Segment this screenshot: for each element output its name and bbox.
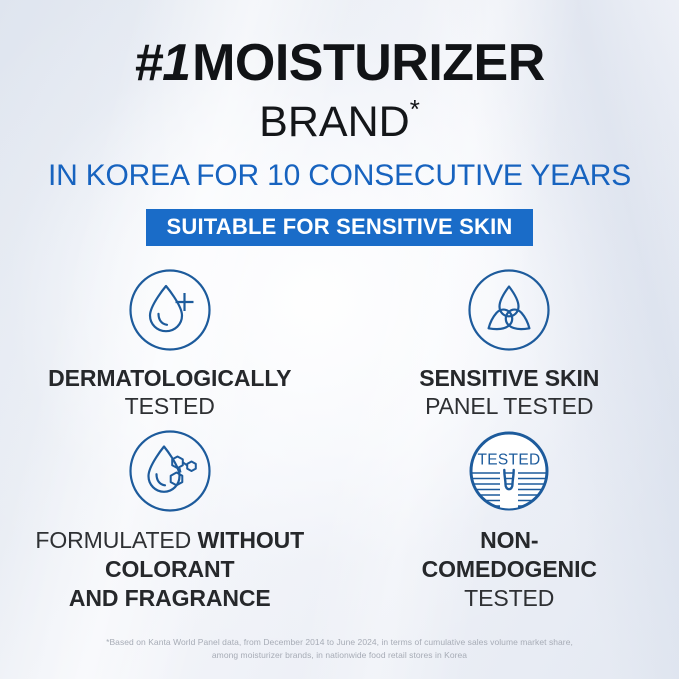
claim-line-2: COMEDOGENIC [422, 556, 597, 582]
claim-line-1: WITHOUT [197, 527, 304, 553]
pore-icon-label: TESTED [478, 452, 541, 469]
claim-line-1-prefix: FORMULATED [35, 527, 197, 553]
claim-label: FORMULATED WITHOUT COLORANT AND FRAGRANC… [35, 526, 304, 613]
claim-line-3: TESTED [464, 585, 554, 611]
claim-without-colorant-fragrance: FORMULATED WITHOUT COLORANT AND FRAGRANC… [20, 429, 320, 613]
headline-primary: #1MOISTURIZER [134, 0, 545, 91]
claim-line-1: DERMATOLOGICALLY [48, 365, 291, 391]
headline-secondary: BRAND* [259, 91, 420, 145]
claim-label: DERMATOLOGICALLY TESTED [48, 364, 291, 422]
claim-line-3: AND FRAGRANCE [69, 585, 271, 611]
claim-line-1: SENSITIVE SKIN [419, 365, 599, 391]
promo-poster: #1MOISTURIZER BRAND* IN KOREA FOR 10 CON… [0, 0, 679, 679]
footnote-line-1: *Based on Kanta World Panel data, from D… [60, 636, 619, 648]
claim-line-2: COLORANT [105, 556, 235, 582]
claim-dermatologically-tested: DERMATOLOGICALLY TESTED [20, 268, 320, 422]
claims-grid: DERMATOLOGICALLY TESTED [0, 268, 679, 614]
asterisk-marker: * [410, 94, 420, 124]
water-drop-molecule-icon [128, 429, 212, 513]
claim-line-2: TESTED [125, 393, 215, 419]
poster-content: #1MOISTURIZER BRAND* IN KOREA FOR 10 CON… [0, 0, 679, 679]
trefoil-leaf-icon [467, 268, 551, 352]
claim-sensitive-skin-panel-tested: SENSITIVE SKIN PANEL TESTED [359, 268, 659, 422]
claim-label: SENSITIVE SKIN PANEL TESTED [419, 364, 599, 422]
status-badge: SUITABLE FOR SENSITIVE SKIN [146, 209, 532, 246]
pore-tested-icon: TESTED [467, 429, 551, 513]
claim-label: NON- COMEDOGENIC TESTED [422, 526, 597, 613]
footnote-disclaimer: *Based on Kanta World Panel data, from D… [0, 636, 679, 661]
headline-tertiary: IN KOREA FOR 10 CONSECUTIVE YEARS [48, 146, 631, 192]
claim-line-1: NON- [480, 527, 538, 553]
water-drop-plus-icon [128, 268, 212, 352]
headline-secondary-text: BRAND [259, 98, 410, 146]
footnote-line-2: among moisturizer brands, in nationwide … [60, 649, 619, 661]
claim-line-2: PANEL TESTED [425, 393, 593, 419]
rank-number: #1 [134, 34, 190, 92]
claim-non-comedogenic-tested: TESTED NON- COMEDOGENIC TESTED [359, 429, 659, 613]
headline-primary-rest: MOISTURIZER [192, 34, 545, 92]
